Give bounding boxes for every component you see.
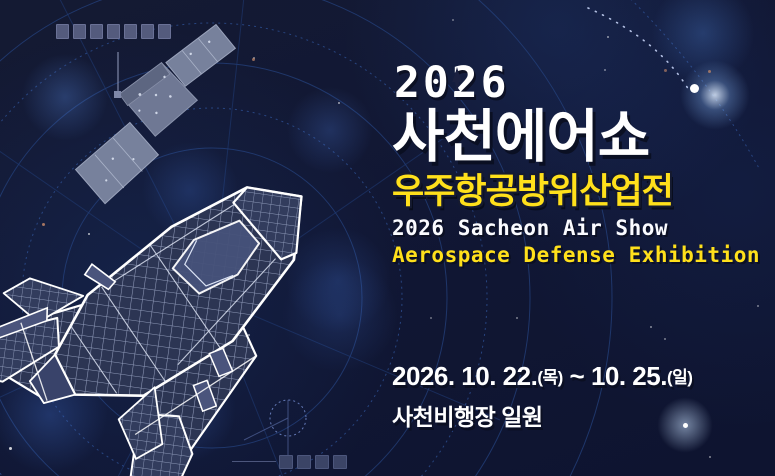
event-venue: 사천비행장 일원	[392, 398, 762, 432]
date-start: 2026. 10. 22.	[392, 361, 537, 391]
decorative-block-bar-top	[56, 24, 171, 39]
decorative-bar-line	[232, 461, 276, 462]
date-separator: ~	[570, 361, 585, 391]
decorative-block-bar-bottom	[279, 455, 347, 469]
headline-block: 2026 사천에어쇼 우주항공방위산업전 2026 Sacheon Air Sh…	[392, 62, 752, 269]
date-end: 10. 25.	[591, 361, 667, 391]
air-show-poster: 2026 사천에어쇼 우주항공방위산업전 2026 Sacheon Air Sh…	[0, 0, 775, 476]
schedule-block: 2026. 10. 22.(목) ~ 10. 25.(일) 사천비행장 일원	[392, 362, 762, 432]
day-end: (일)	[667, 368, 692, 387]
event-date: 2026. 10. 22.(목) ~ 10. 25.(일)	[392, 362, 762, 392]
year-text: 2026	[394, 62, 752, 105]
subtitle-korean: 우주항공방위산업전	[392, 173, 752, 211]
day-start: (목)	[537, 368, 562, 387]
year-label: 2026	[394, 58, 510, 108]
page-title: 사천에어쇼	[392, 108, 752, 167]
english-title-line-2: Aerospace Defense Exhibition	[392, 243, 752, 269]
english-title-line-1: 2026 Sacheon Air Show	[392, 216, 752, 242]
